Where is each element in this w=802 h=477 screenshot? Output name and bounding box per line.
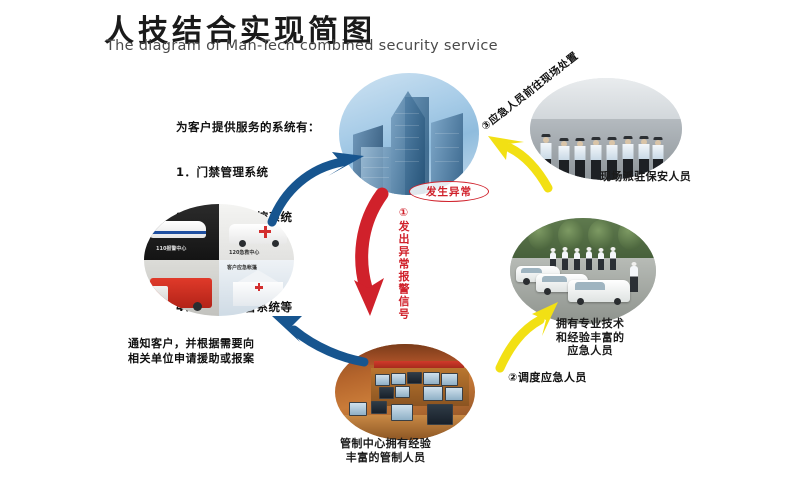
patrol-car: [568, 280, 630, 302]
staff-caption-line-2: 和经验丰富的: [556, 331, 624, 344]
tree-shape: [618, 220, 644, 250]
tent-micro-label: 客户应急帐篷: [227, 264, 257, 271]
wall-monitor: [407, 372, 422, 384]
wall-monitor: [391, 373, 406, 385]
building-window-line: [395, 161, 419, 162]
staff-figure: [562, 251, 568, 270]
blue-arrow-to-emergency: [268, 300, 368, 370]
guards-caption: 现场派驻保安人员: [600, 170, 691, 184]
building-window-line: [395, 137, 419, 138]
staff-caption-line-3: 应急人员: [567, 344, 613, 357]
building-window-line: [395, 113, 419, 114]
staff-figure: [586, 251, 592, 270]
building-window-line: [395, 125, 419, 126]
diagram-canvas: 人技结合实现简图 The diagram of Man-Tech combine…: [0, 0, 802, 477]
desk-monitor: [427, 404, 453, 425]
control-center-caption: 管制中心拥有经验 丰富的管制人员: [340, 437, 431, 465]
wall-monitor: [395, 386, 410, 398]
wall-monitor: [423, 372, 440, 385]
building-window-line: [435, 161, 459, 162]
fire-truck-cab: [146, 286, 168, 306]
control-caption-line-1: 管制中心拥有经验: [340, 437, 431, 450]
yellow-arrow-to-site: [486, 130, 556, 200]
wall-monitor: [379, 387, 394, 399]
staff-figure: [574, 252, 580, 270]
desk-monitor: [371, 401, 387, 414]
notify-caption-line-1: 通知客户，并根据需要向: [128, 337, 255, 350]
control-caption-line-2: 丰富的管制人员: [346, 451, 426, 464]
staff-figure: [598, 252, 604, 270]
wall-monitor: [441, 373, 458, 386]
tree-shape: [528, 220, 554, 250]
building-window-line: [435, 133, 459, 134]
page-subtitle-english: The diagram of Man-Tech combined securit…: [106, 38, 498, 54]
building-window-line: [395, 149, 419, 150]
desk-monitor: [349, 402, 367, 416]
ambulance-micro-label: 120急救中心: [229, 249, 259, 256]
wall-monitor: [375, 374, 390, 386]
wall-monitor: [423, 386, 443, 401]
building-main-tower-facet: [405, 97, 429, 195]
notify-client-caption: 通知客户，并根据需要向 相关单位申请援助或报案: [128, 336, 255, 366]
building-window-line: [435, 147, 459, 148]
fire-truck-quadrant: [144, 260, 219, 316]
flow-label-step1: ①发出异常报警信号: [395, 206, 411, 321]
staff-figure-foreground: [630, 266, 638, 292]
yellow-arrow-dispatch: [496, 298, 566, 374]
tree-shape: [588, 220, 614, 250]
staff-figure: [610, 251, 616, 270]
cars-tree-background: [510, 218, 656, 258]
tree-shape: [558, 220, 584, 250]
guards-background-wall: [530, 78, 682, 119]
police-car-quadrant: 110报警中心: [144, 204, 219, 260]
police-car: [150, 221, 206, 238]
staff-caption-line-1: 拥有专业技术: [556, 317, 624, 330]
wall-monitor: [445, 387, 463, 401]
control-red-band: [374, 361, 464, 368]
systems-list-heading: 为客户提供服务的系统有：: [176, 120, 320, 135]
notify-caption-line-2: 相关单位申请援助或报案: [128, 352, 255, 365]
police-micro-label: 110报警中心: [156, 245, 186, 252]
emergency-staff-caption: 拥有专业技术 和经验丰富的 应急人员: [556, 317, 624, 358]
desk-monitor: [391, 404, 413, 421]
